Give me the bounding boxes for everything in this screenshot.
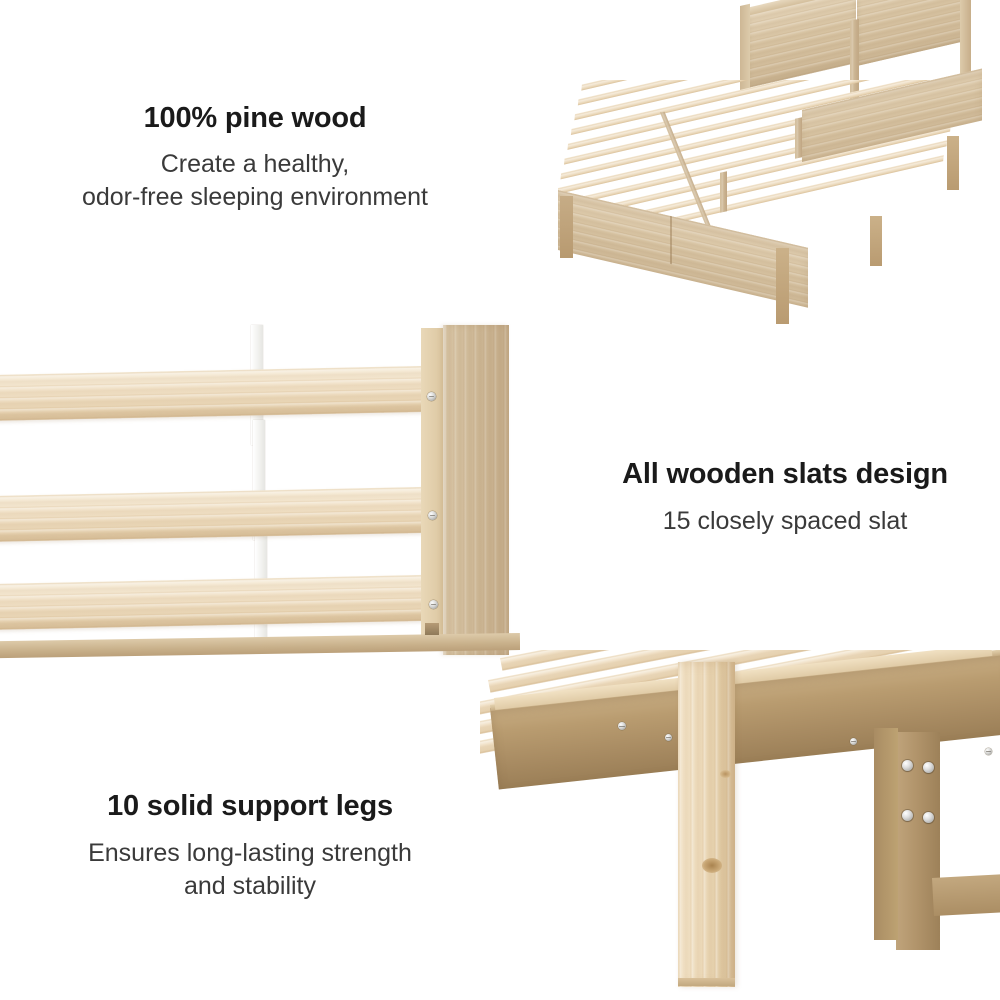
corner-leg-inner-face — [874, 728, 898, 940]
pine-wood-subline-line2: odor-free sleeping environment — [10, 181, 500, 214]
slats-subline: 15 closely spaced slat — [560, 505, 1000, 538]
pine-wood-subline-line1: Create a healthy, — [10, 148, 500, 181]
ledge-screw-1 — [618, 722, 626, 730]
pine-slat-3 — [0, 575, 442, 630]
headboard-post-right — [960, 0, 971, 82]
headboard-post-left — [740, 4, 750, 92]
rail-joint-notch — [425, 623, 439, 635]
slat-closeup-photo — [0, 320, 520, 670]
bed-leg-front-centre — [776, 248, 789, 324]
support-leg-photo — [480, 650, 1000, 1000]
ledge-screw-2 — [665, 734, 672, 741]
headboard-panel-right — [857, 0, 967, 66]
leg-bolt-top-left — [902, 760, 913, 771]
headboard-panel-left — [748, 0, 856, 88]
centre-support-post — [678, 662, 735, 987]
pine-wood-headline: 100% pine wood — [10, 102, 500, 135]
post-knot-lower — [702, 858, 722, 873]
post-bottom-chamfer — [678, 978, 735, 986]
infographic-canvas: 100% pine wood Create a healthy, odor-fr… — [0, 0, 1000, 1000]
ledge-screw-5 — [985, 748, 992, 755]
feature-block-slats: All wooden slats design 15 closely space… — [560, 458, 1000, 538]
slat-screw-2 — [428, 511, 437, 520]
bed-leg-front-left — [560, 196, 573, 258]
centre-support-leg-a — [795, 117, 802, 159]
slat-screw-1 — [427, 392, 436, 401]
slat-screw-3 — [429, 600, 438, 609]
feature-block-pine-wood: 100% pine wood Create a healthy, odor-fr… — [10, 102, 500, 214]
bed-frame-photo — [540, 0, 1000, 332]
lower-cross-rail — [932, 874, 1000, 916]
rail-edge-highlight — [443, 325, 447, 655]
rail-seam-a — [670, 216, 672, 264]
leg-bolt-top-right — [923, 762, 934, 773]
bed-leg-right-head — [947, 136, 959, 190]
ledge-screw-3 — [850, 738, 857, 745]
feature-block-support-legs: 10 solid support legs Ensures long-lasti… — [5, 790, 495, 903]
support-legs-headline: 10 solid support legs — [5, 790, 495, 823]
slats-subline-line1: 15 closely spaced slat — [560, 505, 1000, 538]
pine-slat-1 — [0, 366, 440, 421]
bed-leg-right-mid — [870, 216, 882, 266]
centre-support-leg-b — [720, 171, 727, 213]
leg-bolt-bottom-left — [902, 810, 913, 821]
pine-wood-subline: Create a healthy, odor-free sleeping env… — [10, 148, 500, 214]
leg-bolt-bottom-right — [923, 812, 934, 823]
support-legs-subline: Ensures long-lasting strength and stabil… — [5, 837, 495, 903]
lower-rail-edge — [0, 633, 520, 658]
slats-headline: All wooden slats design — [560, 458, 1000, 491]
support-legs-subline-line2: and stability — [5, 870, 495, 903]
pine-slat-2 — [0, 487, 442, 542]
post-knot-upper — [720, 770, 731, 778]
support-legs-subline-line1: Ensures long-lasting strength — [5, 837, 495, 870]
oak-side-rail — [443, 325, 509, 655]
